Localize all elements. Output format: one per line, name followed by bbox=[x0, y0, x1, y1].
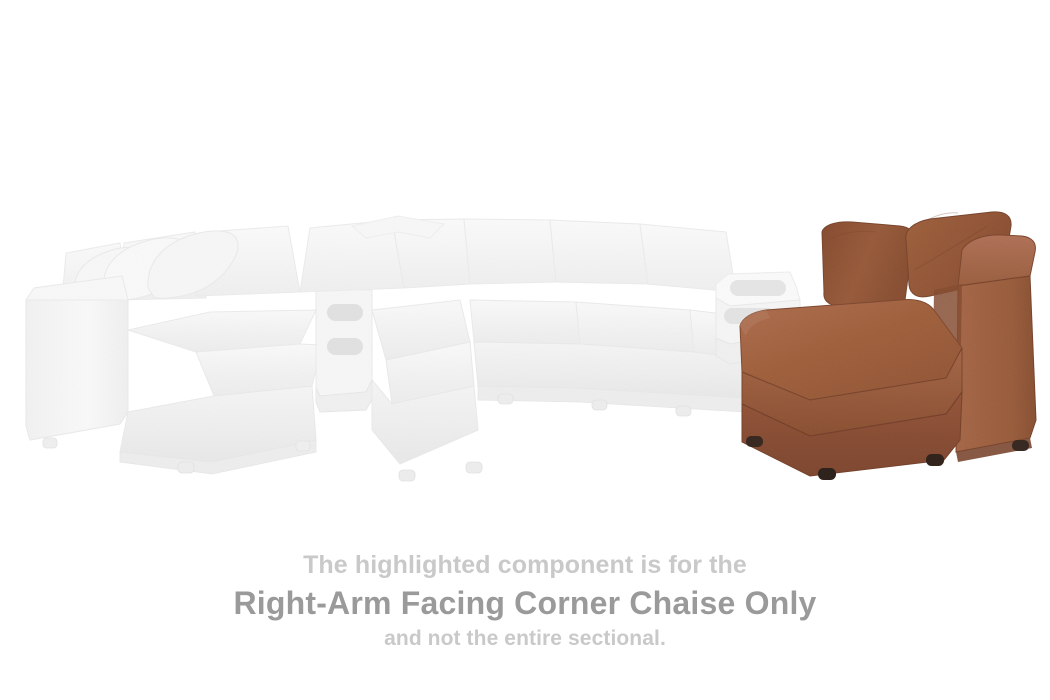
module-armless-chair-run bbox=[464, 219, 744, 416]
caption-block: The highlighted component is for the Rig… bbox=[0, 548, 1050, 654]
chaise-foot bbox=[1012, 440, 1029, 451]
chaise-foot bbox=[818, 468, 836, 480]
chaise-foot bbox=[746, 436, 763, 447]
chaise-back-cushion bbox=[822, 222, 913, 311]
product-illustration bbox=[0, 0, 1050, 520]
module-left-arm-facing-loveseat bbox=[26, 226, 322, 474]
cup-holder-icon bbox=[327, 338, 363, 355]
caption-line-3: and not the entire sectional. bbox=[0, 624, 1050, 654]
caption-line-2-component-name: Right-Arm Facing Corner Chaise Only bbox=[0, 582, 1050, 624]
sectional-sofa-svg bbox=[0, 0, 1050, 520]
ghosted-sectional-group bbox=[26, 216, 802, 481]
chaise-right-arm bbox=[956, 276, 1036, 452]
caption-line-1: The highlighted component is for the bbox=[0, 548, 1050, 582]
screenshot-canvas: The highlighted component is for the Rig… bbox=[0, 0, 1050, 700]
chaise-foot bbox=[926, 454, 944, 466]
module-armless-console-left bbox=[316, 280, 372, 412]
cup-holder-icon bbox=[730, 280, 786, 296]
highlighted-raf-corner-chaise bbox=[740, 212, 1036, 480]
cup-holder-icon bbox=[327, 304, 363, 321]
